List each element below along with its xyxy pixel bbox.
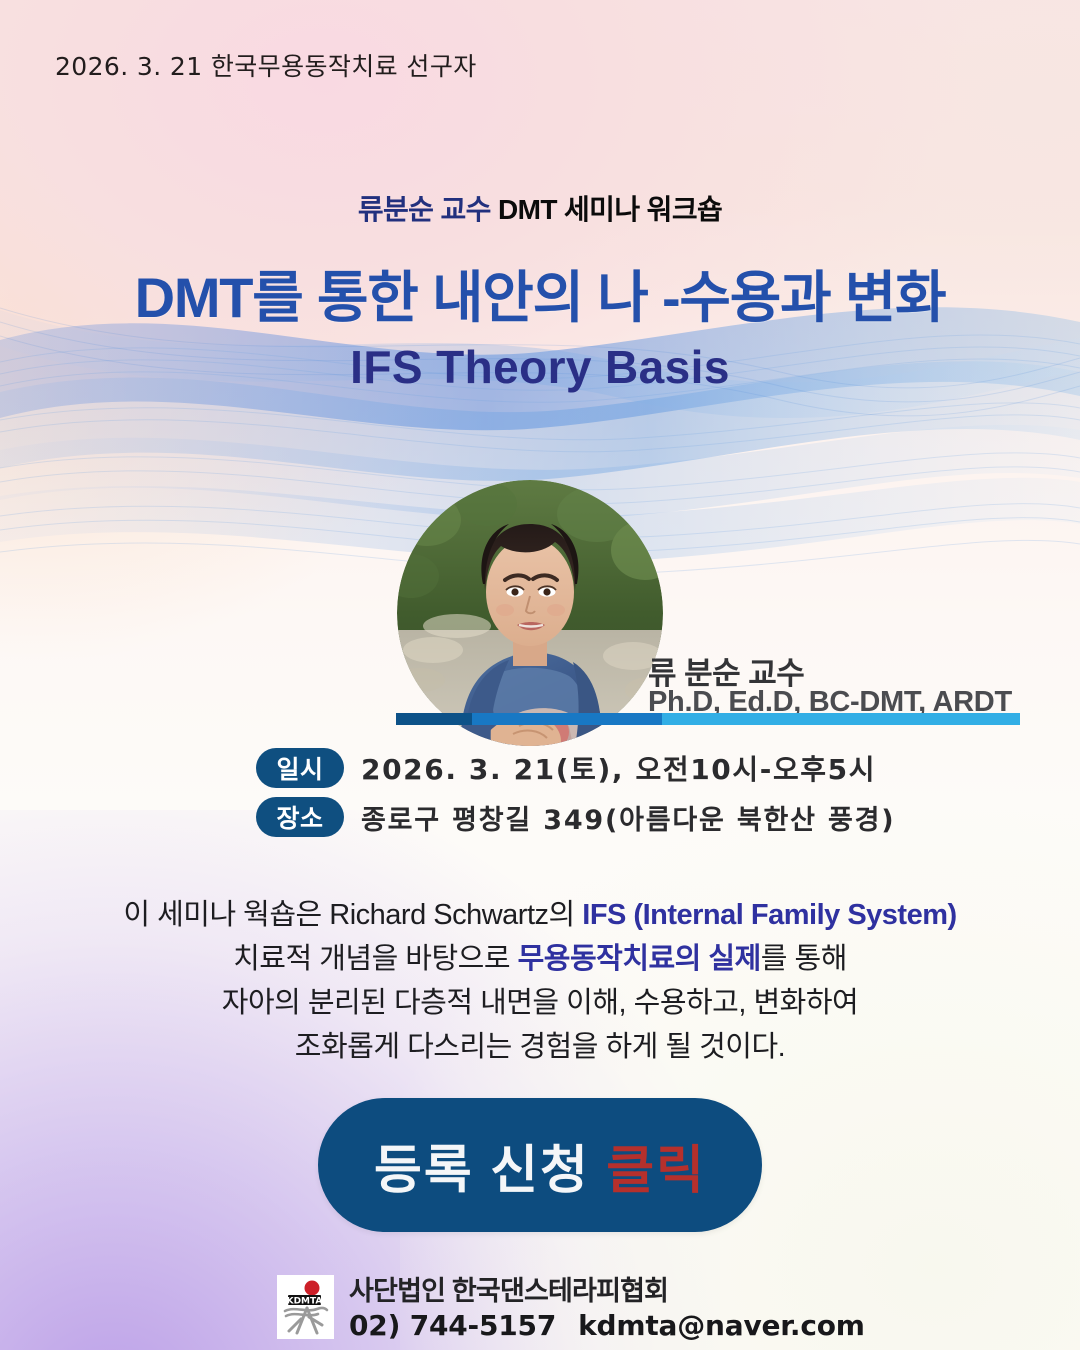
- footer-texts: 사단법인 한국댄스테라피협회 02) 744-5157kdmta@naver.c…: [349, 1275, 865, 1344]
- desc-1-plain: 이 세미나 웍숍은 Richard Schwartz의: [123, 899, 582, 931]
- description-paragraph: 이 세미나 웍숍은 Richard Schwartz의 IFS (Interna…: [0, 893, 1080, 1069]
- footer-phone: 02) 744-5157: [349, 1309, 556, 1342]
- description-line-4: 조화롭게 다스리는 경험을 하게 될 것이다.: [0, 1025, 1080, 1069]
- label-badge-place: 장소: [256, 797, 344, 837]
- kicker-event: DMT 세미나 워크숍: [491, 194, 722, 225]
- description-line-2: 치료적 개념을 바탕으로 무용동작치료의 실제를 통해: [0, 937, 1080, 981]
- desc-1-highlight: IFS (Internal Family System): [582, 899, 956, 931]
- svg-text:KDMTA: KDMTA: [287, 1297, 323, 1307]
- value-date: 2026. 3. 21(토), 오전10시-오후5시: [361, 748, 876, 788]
- register-label-highlight: 클릭: [606, 1142, 706, 1200]
- info-row-date: 일시 2026. 3. 21(토), 오전10시-오후5시: [256, 748, 1036, 788]
- label-badge-date: 일시: [256, 748, 344, 788]
- desc-2-plain-b: 를 통해: [761, 943, 847, 975]
- poster-canvas: 2026. 3. 21 한국무용동작치료 선구자 류분순 교수 DMT 세미나 …: [0, 0, 1080, 1350]
- kicker-speaker: 류분순 교수: [358, 194, 491, 225]
- footer-contact: 02) 744-5157kdmta@naver.com: [349, 1308, 865, 1344]
- divider-segment-dark: [396, 713, 472, 725]
- poster-date-tagline: 2026. 3. 21 한국무용동작치료 선구자: [55, 47, 477, 83]
- background-cream-glow: [400, 810, 1080, 1350]
- footer: KDMTA 사단법인 한국댄스테라피협회 02) 744-5157kdmta@n…: [277, 1275, 865, 1344]
- register-button-label: 등록 신청 클릭: [374, 1128, 706, 1203]
- register-label-main: 등록 신청: [374, 1142, 606, 1200]
- page-title: DMT를 통한 내안의 나 -수용과 변화: [0, 253, 1080, 334]
- divider-segment-mid: [472, 713, 662, 725]
- page-subtitle: IFS Theory Basis: [0, 340, 1080, 394]
- info-row-place: 장소 종로구 평창길 349(아름다운 북한산 풍경): [256, 797, 1036, 837]
- description-line-3: 자아의 분리된 다층적 내면을 이해, 수용하고, 변화하여: [0, 981, 1080, 1025]
- divider-bar: [396, 713, 1020, 725]
- divider-segment-light: [662, 713, 1020, 725]
- poster-kicker: 류분순 교수 DMT 세미나 워크숍: [0, 188, 1080, 228]
- register-button[interactable]: 등록 신청 클릭: [318, 1098, 762, 1232]
- footer-email: kdmta@naver.com: [578, 1309, 865, 1342]
- desc-2-highlight: 무용동작치료의 실제: [518, 943, 761, 975]
- speaker-portrait: [397, 480, 663, 746]
- footer-organization: 사단법인 한국댄스테라피협회: [349, 1275, 865, 1308]
- description-line-1: 이 세미나 웍숍은 Richard Schwartz의 IFS (Interna…: [0, 893, 1080, 937]
- kdmta-logo-icon: KDMTA: [277, 1275, 334, 1339]
- value-place: 종로구 평창길 349(아름다운 북한산 풍경): [361, 798, 895, 837]
- event-info: 일시 2026. 3. 21(토), 오전10시-오후5시 장소 종로구 평창길…: [256, 748, 1036, 846]
- desc-2-plain-a: 치료적 개념을 바탕으로: [233, 943, 517, 975]
